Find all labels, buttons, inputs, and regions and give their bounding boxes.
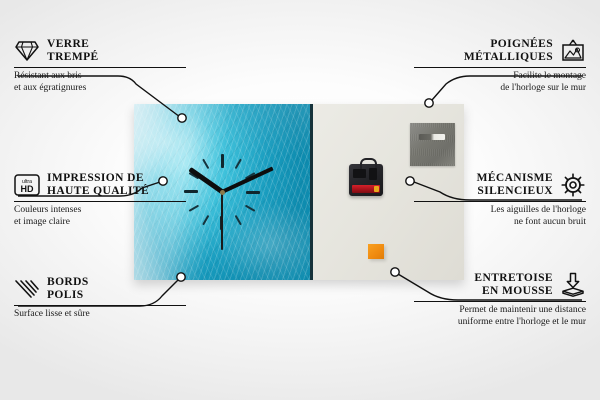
- svg-text:HD: HD: [21, 184, 34, 194]
- feature-divider: [414, 67, 586, 68]
- feature-description: Résistant aux bris et aux égratignures: [14, 71, 186, 94]
- feature-title: IMPRESSION DE HAUTE QUALITÉ: [47, 172, 149, 198]
- metal-hanger-plate: [410, 123, 455, 166]
- feature-bords-polis: BORDS POLIS Surface lisse et sûre: [14, 276, 186, 321]
- feature-title: MÉCANISME SILENCIEUX: [477, 172, 553, 198]
- feature-heading: VERRE TREMPÉ: [14, 38, 186, 64]
- feature-impression-haute-qualite: ultra HD IMPRESSION DE HAUTE QUALITÉ Cou…: [14, 172, 186, 228]
- feature-heading: BORDS POLIS: [14, 276, 186, 302]
- feature-entretoise-en-mousse: ENTRETOISE EN MOUSSE Permet de maintenir…: [414, 272, 586, 328]
- wall-frame-icon: [560, 38, 586, 64]
- ultra-hd-icon: ultra HD: [14, 172, 40, 198]
- mechanism-detail-left: [353, 169, 366, 178]
- feature-divider: [14, 305, 186, 306]
- infographic-canvas: VERRE TREMPÉ Résistant aux bris et aux é…: [0, 0, 600, 400]
- feature-title: POIGNÉES MÉTALLIQUES: [464, 38, 553, 64]
- diamond-icon: [14, 38, 40, 64]
- gear-icon: [560, 172, 586, 198]
- feature-mecanisme-silencieux: MÉCANISME SILENCIEUX Les aiguilles de l'…: [414, 172, 586, 228]
- feature-title: BORDS POLIS: [47, 276, 89, 302]
- feature-heading: ENTRETOISE EN MOUSSE: [414, 272, 586, 298]
- polished-edges-icon: [14, 276, 40, 302]
- mechanism-detail-right: [369, 168, 377, 180]
- feature-verre-trempe: VERRE TREMPÉ Résistant aux bris et aux é…: [14, 38, 186, 94]
- feature-description: Surface lisse et sûre: [14, 309, 186, 321]
- foam-spacer-icon: [560, 272, 586, 298]
- feature-heading: POIGNÉES MÉTALLIQUES: [414, 38, 586, 64]
- feature-poignees-metalliques: POIGNÉES MÉTALLIQUES Facilite le montage…: [414, 38, 586, 94]
- feature-description: Permet de maintenir une distance uniform…: [414, 305, 586, 328]
- battery-terminal: [374, 186, 379, 192]
- feature-heading: ultra HD IMPRESSION DE HAUTE QUALITÉ: [14, 172, 186, 198]
- feature-description: Couleurs intenses et image claire: [14, 205, 186, 228]
- feature-divider: [14, 201, 186, 202]
- feature-divider: [14, 67, 186, 68]
- battery: [352, 185, 380, 193]
- foam-spacer-pad: [368, 244, 384, 259]
- feature-divider: [414, 201, 586, 202]
- feature-description: Les aiguilles de l'horloge ne font aucun…: [414, 205, 586, 228]
- feature-description: Facilite le montage de l'horloge sur le …: [414, 71, 586, 94]
- feature-heading: MÉCANISME SILENCIEUX: [414, 172, 586, 198]
- clock-mechanism-box: [349, 164, 383, 196]
- hanger-keyhole-slot: [419, 134, 445, 140]
- feature-title: VERRE TREMPÉ: [47, 38, 99, 64]
- feature-title: ENTRETOISE EN MOUSSE: [474, 272, 553, 298]
- feature-divider: [414, 301, 586, 302]
